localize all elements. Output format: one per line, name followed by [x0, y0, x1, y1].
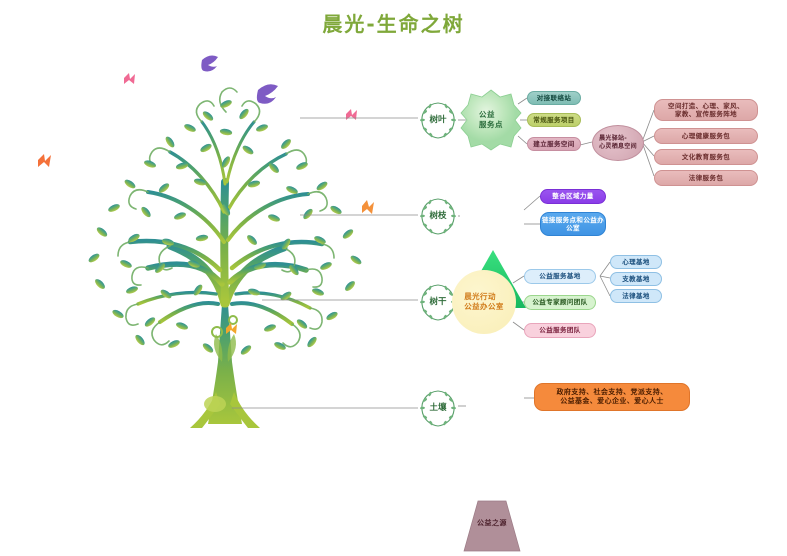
hub-soil-label: 公益之源: [460, 518, 524, 528]
soil-item-1[interactable]: 政府支持、社会支持、党派支持、 公益基金、爱心企业、爱心人士: [534, 383, 690, 411]
wreath-label-trunk-text: 树干: [429, 298, 446, 307]
trunk-item-2[interactable]: 公益专家顾问团队: [524, 295, 596, 310]
leaf-sub-item-1[interactable]: 空间打造、心理、家风、 家教、宣传服务阵地: [654, 99, 758, 121]
leaf-sub-item-2[interactable]: 心理健康服务包: [654, 128, 758, 144]
hub-trunk-public-welfare-office[interactable]: 晨光行动 公益办公室: [452, 270, 516, 334]
trunk-sub-item-1[interactable]: 心理基地: [610, 255, 662, 269]
trunk-sub-item-3[interactable]: 法律基地: [610, 289, 662, 303]
leaf-item-3[interactable]: 建立服务空间: [527, 137, 581, 151]
trunk-sub-item-2[interactable]: 支教基地: [610, 272, 662, 286]
wreath-label-soil-text: 土壤: [429, 404, 446, 413]
wreath-label-branch-text: 树枝: [429, 212, 446, 221]
hub-leaf-service-point[interactable]: 公益 服务点: [460, 89, 522, 151]
wreath-label-leaf-text: 树叶: [429, 116, 446, 125]
wreath-label-leaf[interactable]: 树叶: [418, 98, 458, 142]
mindmap-canvas: 晨光-生命之树: [0, 0, 787, 443]
hub-chenguang-station[interactable]: 晨光驿站- 心灵栖息空间: [592, 125, 644, 161]
hub-leaf-label: 公益 服务点: [460, 89, 522, 151]
wreath-label-branch[interactable]: 树枝: [418, 194, 458, 238]
branch-item-1[interactable]: 整合区域力量: [540, 189, 606, 204]
hub-soil-source[interactable]: 公益之源: [460, 500, 524, 552]
trunk-item-3[interactable]: 公益服务团队: [524, 323, 596, 338]
branch-item-2[interactable]: 链接服务点和公益办 公室: [540, 212, 606, 236]
leaf-sub-item-4[interactable]: 法律服务包: [654, 170, 758, 186]
tree-of-life-illustration: [30, 32, 420, 432]
leaf-sub-item-3[interactable]: 文化教育服务包: [654, 149, 758, 165]
bird-icon: [201, 56, 278, 104]
wreath-label-soil[interactable]: 土壤: [418, 386, 458, 430]
leaf-item-1[interactable]: 对接联络站: [527, 91, 581, 105]
trunk-item-1[interactable]: 公益服务基地: [524, 269, 596, 284]
leaf-item-2[interactable]: 常规服务项目: [527, 113, 581, 127]
